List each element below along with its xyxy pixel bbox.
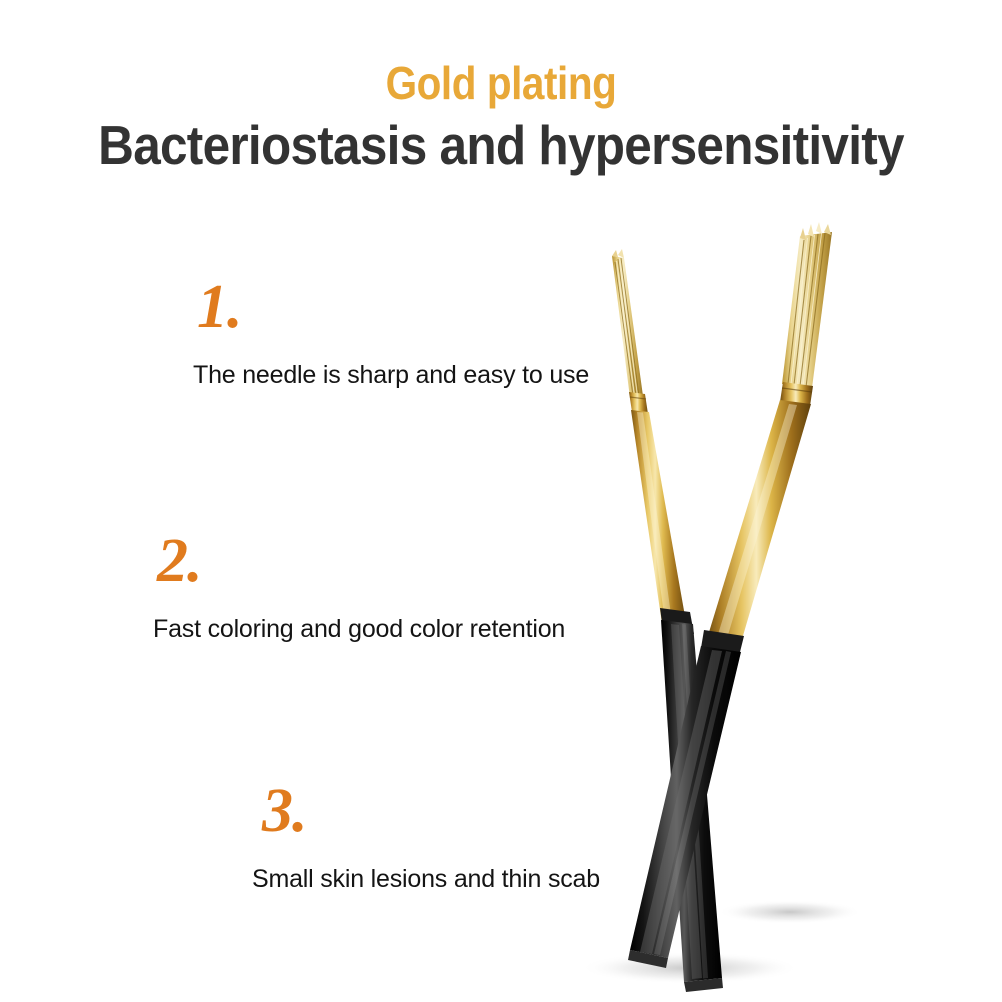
handle-socket-right xyxy=(700,630,744,660)
pen-shadow-left xyxy=(580,952,800,984)
feature-text-1: The needle is sharp and easy to use xyxy=(193,360,589,390)
feature-item-2: 2. Fast coloring and good color retentio… xyxy=(157,530,565,644)
heading-block: Gold plating Bacteriostasis and hypersen… xyxy=(0,58,1002,176)
needle-tip-right xyxy=(782,222,832,388)
handle-right xyxy=(630,646,741,958)
feature-item-1: 1. The needle is sharp and easy to use xyxy=(197,276,589,390)
handle-socket-left xyxy=(660,608,694,634)
feature-number-1: 1. xyxy=(197,276,589,338)
feature-text-2: Fast coloring and good color retention xyxy=(153,614,565,644)
needle-tip-left xyxy=(612,249,643,398)
handle-left xyxy=(661,620,722,982)
feature-item-3: 3. Small skin lesions and thin scab xyxy=(262,780,600,894)
ferrule-left xyxy=(629,392,648,414)
feature-number-2: 2. xyxy=(157,530,565,592)
pen-right xyxy=(628,222,832,968)
gold-shaft-right xyxy=(706,400,811,646)
pen-shadow-right xyxy=(718,900,862,924)
ferrule-right xyxy=(780,382,813,406)
pen-left xyxy=(612,249,723,992)
feature-number-3: 3. xyxy=(262,780,600,842)
page-title-gold-plating: Gold plating xyxy=(60,58,942,108)
page-subtitle: Bacteriostasis and hypersensitivity xyxy=(50,114,952,176)
gold-shaft-left xyxy=(631,410,686,624)
infographic-page: Gold plating Bacteriostasis and hypersen… xyxy=(0,0,1002,1002)
feature-text-3: Small skin lesions and thin scab xyxy=(252,864,600,894)
